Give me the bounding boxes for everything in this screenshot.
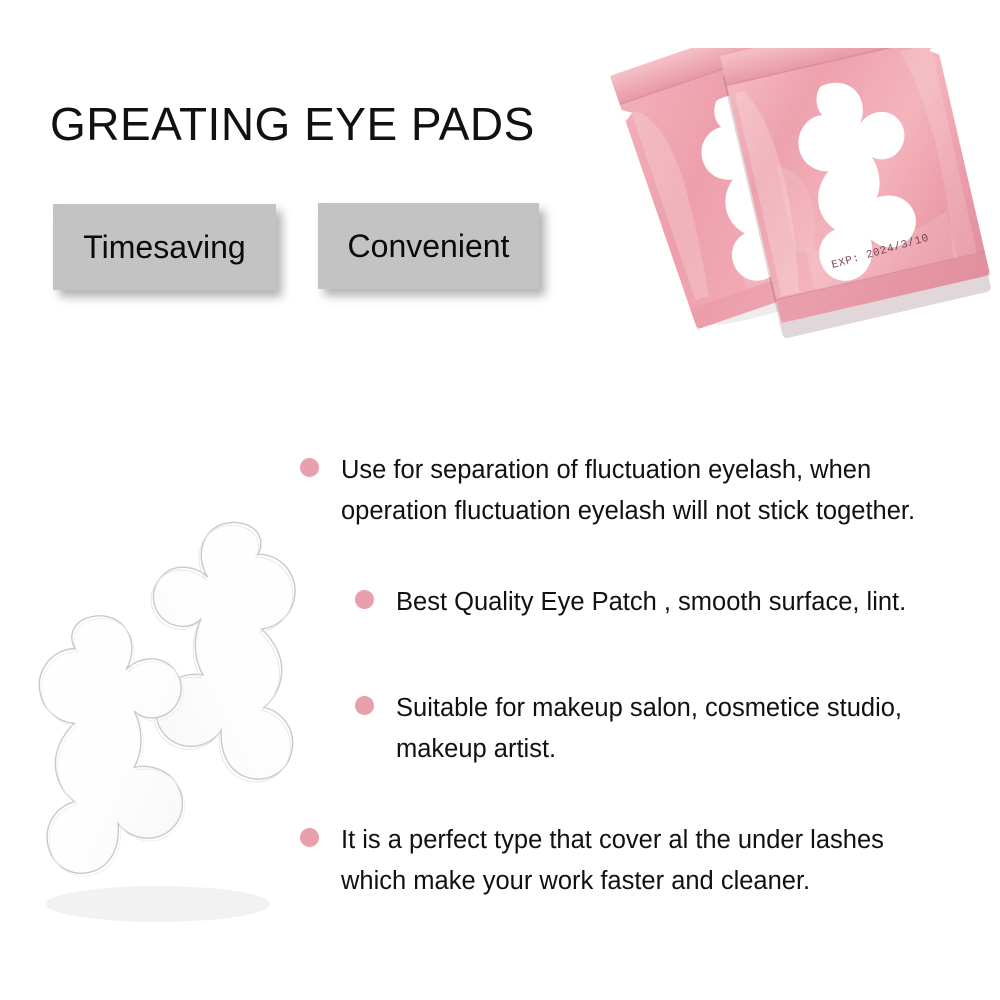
badge-convenient: Convenient xyxy=(318,203,539,289)
badge-timesaving: Timesaving xyxy=(53,204,276,290)
bullet-dot-icon xyxy=(355,696,374,715)
bullet-dot-icon xyxy=(300,458,319,477)
benefit-text: Use for separation of fluctuation eyelas… xyxy=(341,450,940,533)
badge-convenient-label: Convenient xyxy=(348,228,510,265)
bullet-dot-icon xyxy=(300,828,319,847)
list-item: Use for separation of fluctuation eyelas… xyxy=(300,450,940,533)
eye-pads-image xyxy=(8,486,320,936)
benefit-text: It is a perfect type that cover al the u… xyxy=(341,820,940,903)
benefit-text: Suitable for makeup salon, cosmetice stu… xyxy=(396,688,945,771)
benefit-text: Best Quality Eye Patch , smooth surface,… xyxy=(396,582,906,623)
list-item: Best Quality Eye Patch , smooth surface,… xyxy=(355,582,955,623)
badge-timesaving-label: Timesaving xyxy=(83,229,245,266)
bullet-dot-icon xyxy=(355,590,374,609)
product-packets-image: EXP: 2024/3/10 xyxy=(592,48,1000,408)
list-item: Suitable for makeup salon, cosmetice stu… xyxy=(355,688,945,771)
list-item: It is a perfect type that cover al the u… xyxy=(300,820,940,903)
page-title: GREATING EYE PADS xyxy=(50,99,535,150)
